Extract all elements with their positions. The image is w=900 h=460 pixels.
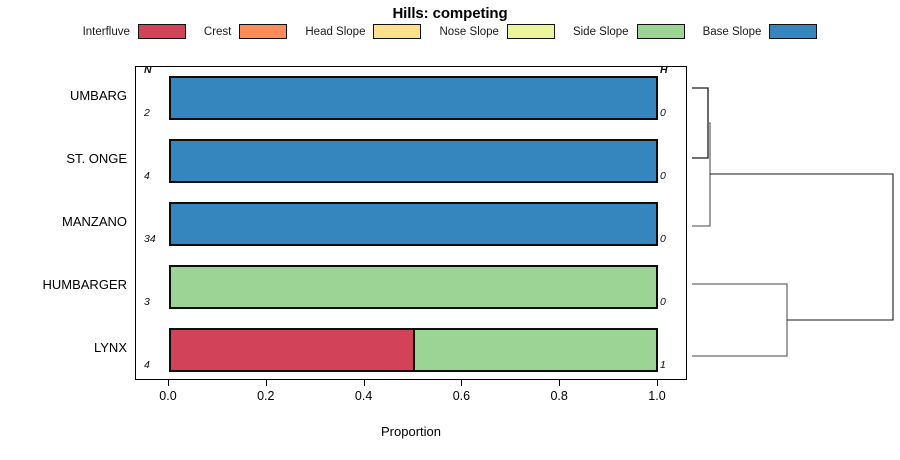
bar-h-value: 0	[660, 296, 666, 308]
legend-item-label: Head Slope	[305, 26, 365, 38]
y-axis-labels: UMBARGST. ONGEMANZANOHUMBARGERLYNX	[0, 66, 127, 380]
bar-h-value: 0	[660, 170, 666, 182]
y-axis-tick-label: MANZANO	[0, 214, 127, 229]
x-axis-tick	[266, 380, 267, 386]
bar-n-value: 2	[144, 107, 150, 119]
bar-row	[136, 202, 686, 246]
legend-item-label: Interfluve	[83, 26, 130, 38]
legend-item-base-slope: Base Slope	[703, 24, 818, 39]
x-axis-title: Proportion	[135, 424, 687, 439]
bar-segment	[171, 78, 656, 118]
x-axis-tick	[461, 380, 462, 386]
legend-item-interfluve: Interfluve	[83, 24, 186, 39]
legend-item-side-slope: Side Slope	[573, 24, 685, 39]
legend-swatch-icon	[138, 24, 186, 39]
legend-item-nose-slope: Nose Slope	[439, 24, 554, 39]
y-axis-tick-label: ST. ONGE	[0, 151, 127, 166]
x-axis-tick	[657, 380, 658, 386]
bar-n-value: 3	[144, 296, 150, 308]
legend-swatch-icon	[507, 24, 555, 39]
bar-n-value: 34	[144, 233, 156, 245]
bar-h-value: 0	[660, 107, 666, 119]
bar-n-value: 4	[144, 359, 150, 371]
x-axis-tick-label: 1.0	[627, 389, 687, 403]
dendro-branch-root	[710, 174, 893, 320]
bar-row	[136, 76, 686, 120]
x-axis-tick	[559, 380, 560, 386]
stacked-bar	[169, 139, 658, 183]
x-axis-tick-label: 0.0	[138, 389, 198, 403]
h-column-header: H	[660, 64, 668, 76]
dendrogram-svg	[690, 66, 900, 380]
legend-swatch-icon	[637, 24, 685, 39]
bar-row	[136, 139, 686, 183]
bar-segment	[171, 141, 656, 181]
dendrogram	[690, 66, 900, 380]
y-axis-tick-label: HUMBARGER	[0, 277, 127, 292]
x-axis-tick-label: 0.2	[236, 389, 296, 403]
bar-segment	[171, 267, 656, 307]
legend-swatch-icon	[239, 24, 287, 39]
bar-segment	[171, 204, 656, 244]
bar-segment	[413, 330, 657, 370]
chart-title: Hills: competing	[0, 5, 900, 22]
dendro-branch-humbarger-lynx	[692, 284, 787, 356]
legend-item-label: Crest	[204, 26, 231, 38]
stacked-bar	[169, 265, 658, 309]
x-axis-tick-label: 0.4	[334, 389, 394, 403]
bar-row	[136, 265, 686, 309]
stacked-bar	[169, 76, 658, 120]
legend-item-label: Nose Slope	[439, 26, 498, 38]
plot-panel: 20403403041NH	[135, 66, 687, 380]
chart-legend: InterfluveCrestHead SlopeNose SlopeSide …	[0, 24, 900, 39]
x-axis: 0.00.20.40.60.81.0	[135, 380, 687, 426]
legend-swatch-icon	[373, 24, 421, 39]
x-axis-tick	[168, 380, 169, 386]
dendro-branch-umbarg-stonge	[692, 88, 708, 158]
legend-item-crest: Crest	[204, 24, 287, 39]
legend-item-head-slope: Head Slope	[305, 24, 421, 39]
bar-h-value: 0	[660, 233, 666, 245]
bar-row	[136, 328, 686, 372]
x-axis-tick-label: 0.8	[529, 389, 589, 403]
x-axis-tick	[364, 380, 365, 386]
bar-n-value: 4	[144, 170, 150, 182]
legend-item-label: Base Slope	[703, 26, 762, 38]
chart-figure: Hills: competing InterfluveCrestHead Slo…	[0, 0, 900, 460]
bars-layer: 20403403041NH	[136, 67, 686, 379]
dendro-branch-blue-cluster	[692, 123, 710, 226]
y-axis-tick-label: UMBARG	[0, 88, 127, 103]
legend-item-label: Side Slope	[573, 26, 629, 38]
n-column-header: N	[144, 64, 152, 76]
bar-h-value: 1	[660, 359, 666, 371]
y-axis-tick-label: LYNX	[0, 340, 127, 355]
stacked-bar	[169, 202, 658, 246]
legend-swatch-icon	[769, 24, 817, 39]
x-axis-tick-label: 0.6	[431, 389, 491, 403]
stacked-bar	[169, 328, 658, 372]
bar-segment	[171, 330, 413, 370]
